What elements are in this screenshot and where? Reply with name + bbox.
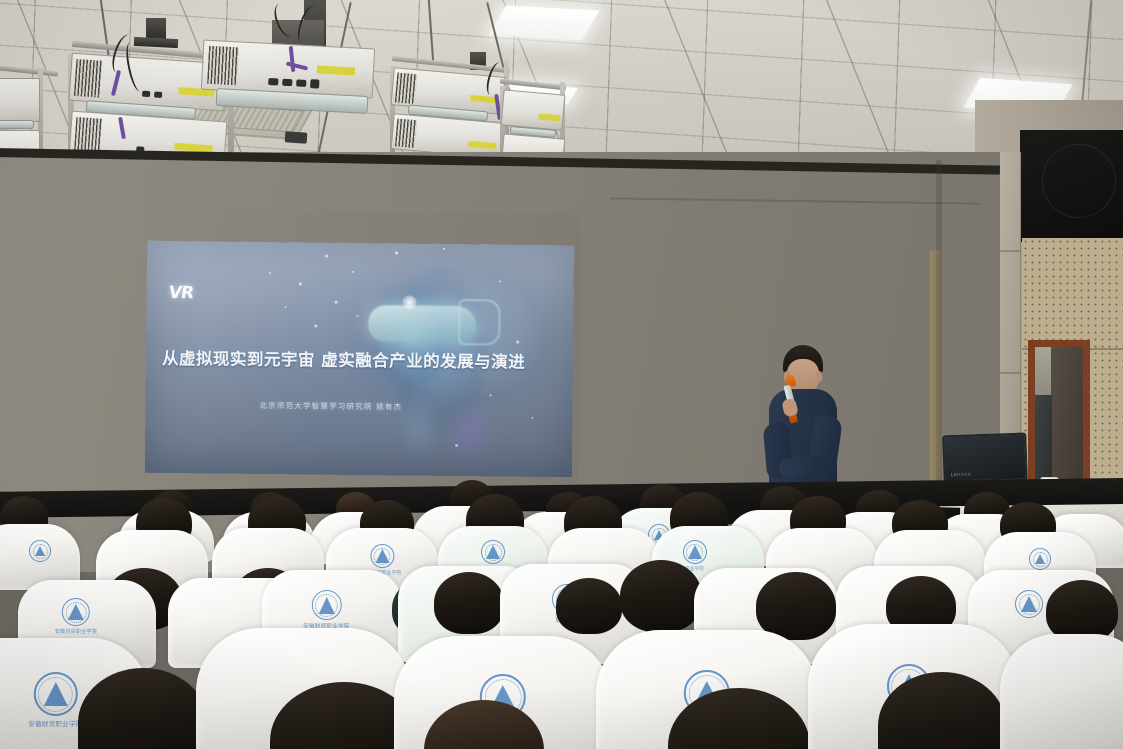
audience-head [1046, 580, 1118, 642]
university-emblem-icon [1015, 590, 1043, 618]
ceiling-light-panel [489, 6, 600, 41]
chair-logo: 安徽财贸职业学院 [55, 598, 97, 635]
lecture-hall-photo: VR 从虚拟现实到元宇宙 虚实融合产业的发展与演进 北京师范大学智慧学习研究院 … [0, 0, 1123, 749]
projector-center [200, 0, 380, 136]
projector-port [142, 91, 150, 98]
emblem-mark-icon [486, 545, 500, 559]
university-emblem-icon [1029, 548, 1051, 570]
chair-logo: 安徽财贸职业学院 [303, 590, 349, 630]
projector-vent [74, 117, 102, 154]
emblem-mark-icon [68, 604, 84, 620]
emblem-mark-icon [375, 549, 389, 563]
projector-port [282, 79, 292, 87]
projector-port [310, 79, 319, 88]
chair-logo [29, 540, 51, 562]
chair-logo [1029, 548, 1051, 570]
emblem-mark-icon [318, 597, 334, 614]
screen-projection-veil [145, 241, 574, 477]
university-emblem-icon [29, 540, 51, 562]
emblem-mark-icon [1035, 554, 1045, 564]
university-emblem-icon [370, 544, 394, 568]
audience-head [556, 578, 622, 634]
projector [501, 89, 566, 130]
university-emblem-icon [34, 672, 78, 716]
projector-vent [207, 46, 239, 86]
university-emblem-icon [62, 598, 90, 626]
university-emblem-icon [311, 590, 341, 620]
projector-vent [395, 73, 418, 105]
audience-head [756, 572, 836, 640]
lenovo-monitor[interactable]: Lenovo [942, 433, 1028, 484]
rig-frame-bar [500, 79, 566, 91]
chair-logo-text: 安徽财贸职业学院 [55, 628, 97, 635]
projector-lens [0, 120, 34, 129]
emblem-mark-icon [688, 545, 702, 559]
chair-cover [1000, 634, 1123, 749]
emblem-mark-icon [44, 682, 68, 706]
university-emblem-icon [683, 540, 707, 564]
emblem-mark-icon [1021, 596, 1037, 612]
projector-port [268, 78, 278, 86]
university-emblem-icon [481, 540, 505, 564]
rig-frame-bar [0, 64, 58, 76]
projector-warning-label [538, 114, 560, 122]
audience-head [620, 560, 702, 632]
dark-ceiling-recess [1020, 130, 1123, 242]
chair-logo [481, 540, 505, 564]
monitor-brand-label: Lenovo [950, 472, 971, 479]
projector-warning-label [317, 66, 355, 76]
projector-port [154, 91, 162, 98]
chair-logo [1015, 590, 1043, 618]
presenter-ear [816, 371, 822, 382]
chair-logo: 安徽财贸职业学院 [28, 672, 82, 728]
chair-logo-text: 安徽财贸职业学院 [28, 718, 82, 728]
projector-vent [395, 119, 417, 149]
projector-vent [74, 59, 103, 98]
emblem-mark-icon [35, 546, 45, 556]
projector-warning-label [468, 141, 496, 149]
projection-screen: VR 从虚拟现实到元宇宙 虚实融合产业的发展与演进 北京师范大学智慧学习研究院 … [145, 241, 574, 477]
projector [0, 78, 40, 122]
projector-port [296, 79, 306, 87]
audience-head [434, 572, 504, 634]
